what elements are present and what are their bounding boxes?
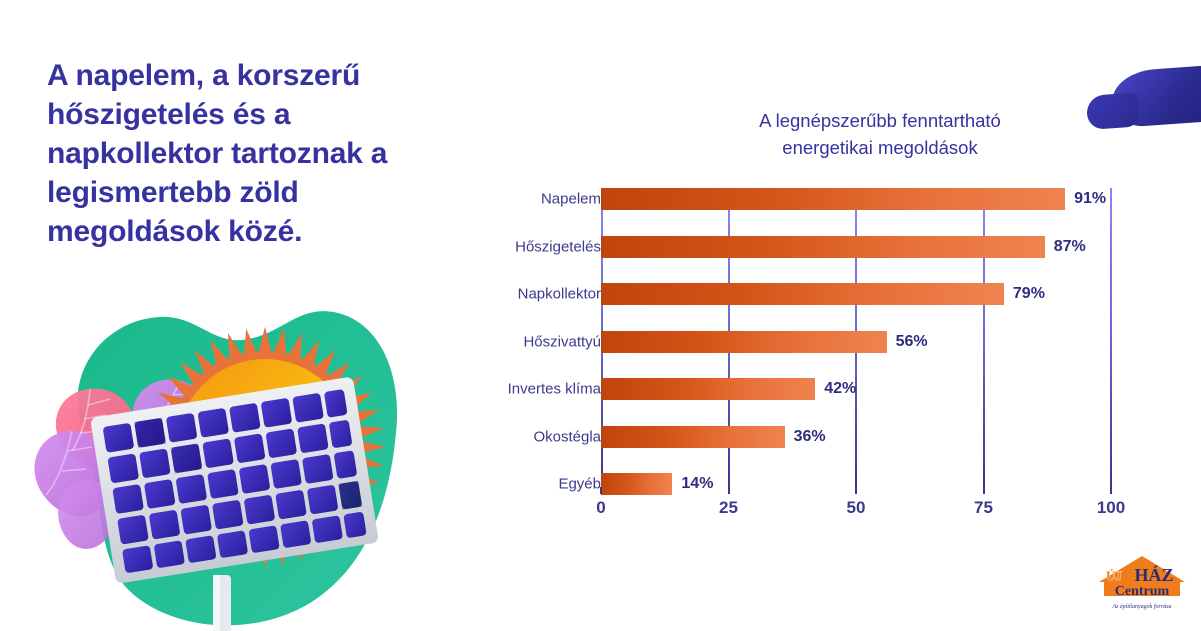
x-tick [728, 487, 730, 494]
category-label: Okostégla [533, 428, 601, 445]
ujhaz-centrum-logo[interactable]: ÚJ HÁZ Centrum Az építőanyagok forrása [1092, 552, 1192, 614]
chart-title-line-2: energetikai megoldások [640, 135, 1120, 162]
category-label: Napkollektor [518, 286, 601, 303]
infographic-canvas: A napelem, a korszerű hőszigetelés és a … [0, 0, 1201, 631]
plot-area: 91%87%79%56%42%36%14% [601, 180, 1111, 492]
bar-value-label: 79% [1013, 285, 1045, 303]
category-label: Hőszivattyú [523, 333, 601, 350]
category-label: Napelem [541, 191, 601, 208]
logo-word-haz: HÁZ [1134, 564, 1173, 585]
category-label: Invertes klíma [508, 381, 601, 398]
chart-title: A legnépszerűbb fenntartható energetikai… [640, 108, 1120, 162]
bar-row: 36% [601, 426, 1111, 448]
bar-row: 87% [601, 236, 1111, 258]
x-tick-label: 25 [719, 498, 738, 518]
bar [601, 378, 815, 400]
bar [601, 188, 1065, 210]
bar-row: 42% [601, 378, 1111, 400]
x-tick [600, 487, 602, 494]
bar [601, 426, 785, 448]
x-axis-tick-labels: 0255075100 [601, 498, 1111, 526]
bar-value-label: 91% [1074, 190, 1106, 208]
navy-blob-decoration [1110, 64, 1201, 128]
x-tick-label: 50 [847, 498, 866, 518]
bar-row: 56% [601, 331, 1111, 353]
solar-panel-sun-illustration [30, 285, 430, 631]
bar-row: 79% [601, 283, 1111, 305]
x-tick-label: 100 [1097, 498, 1125, 518]
x-tick [855, 487, 857, 494]
chart-title-line-1: A legnépszerűbb fenntartható [640, 108, 1120, 135]
bar [601, 236, 1045, 258]
bar [601, 331, 887, 353]
bar-value-label: 56% [896, 333, 928, 351]
x-axis-ticks [601, 487, 1111, 495]
bar-value-label: 42% [824, 380, 856, 398]
x-tick [983, 487, 985, 494]
headline-text: A napelem, a korszerű hőszigetelés és a … [47, 56, 467, 251]
logo-tagline: Az építőanyagok forrása [1112, 603, 1172, 610]
x-tick-label: 75 [974, 498, 993, 518]
logo-word-uj: ÚJ [1106, 568, 1122, 583]
category-label: Hőszigetelés [515, 238, 601, 255]
bar-chart: NapelemHőszigetelésNapkollektorHőszivatt… [470, 180, 1170, 525]
logo-word-centrum: Centrum [1115, 584, 1170, 599]
bar-value-label: 87% [1054, 238, 1086, 256]
category-label: Egyéb [558, 476, 601, 493]
x-tick [1110, 487, 1112, 494]
category-axis: NapelemHőszigetelésNapkollektorHőszivatt… [470, 180, 601, 492]
x-tick-label: 0 [596, 498, 605, 518]
bar-value-label: 36% [794, 428, 826, 446]
bar [601, 283, 1004, 305]
bar-row: 91% [601, 188, 1111, 210]
